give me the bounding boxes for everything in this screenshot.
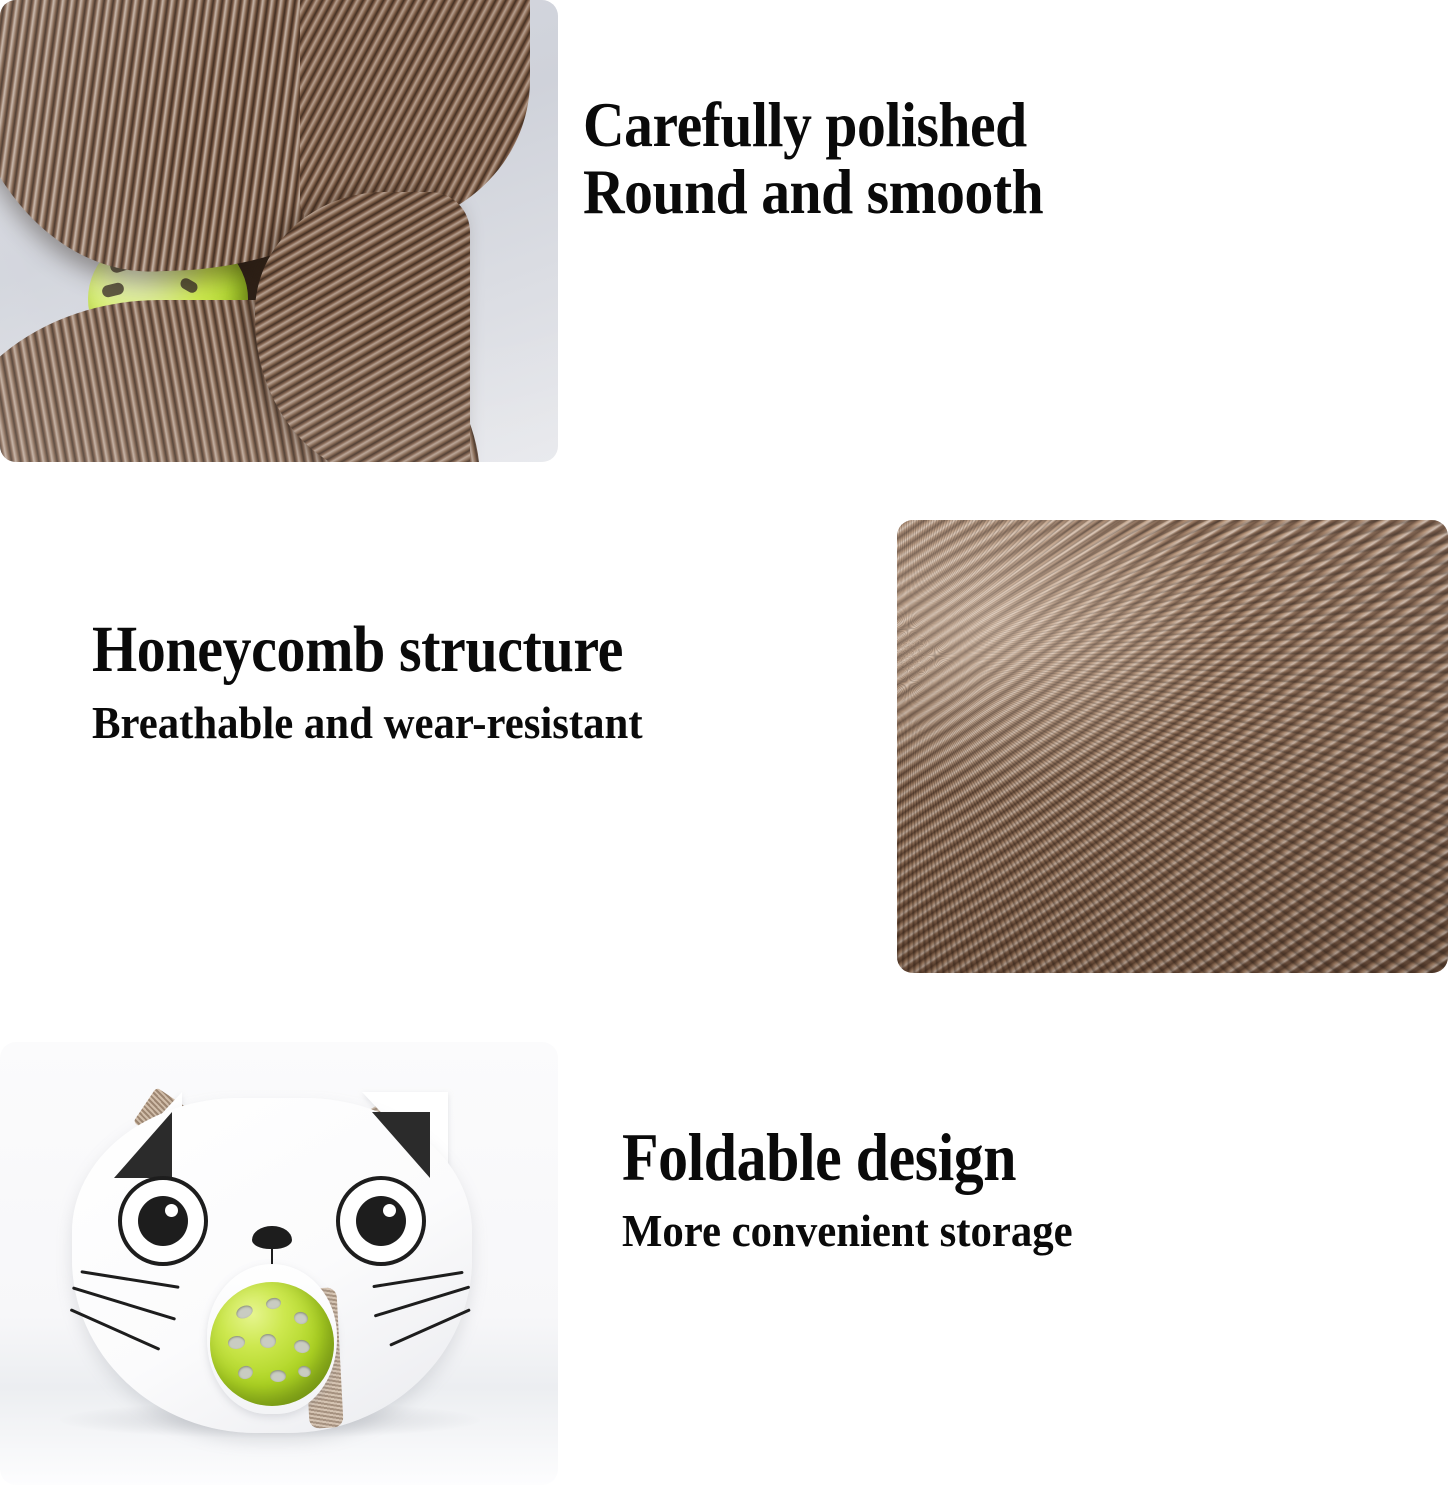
cat-face-scratcher	[62, 1078, 482, 1436]
ball-hole	[270, 1370, 286, 1382]
cat-eye-right	[336, 1176, 426, 1266]
cat-pupil-right	[356, 1196, 406, 1246]
honeycomb-lighting-overlay	[897, 520, 1448, 973]
subline-more-convenient-storage: More convenient storage	[622, 1207, 1073, 1255]
ball-hole	[297, 1364, 313, 1378]
corrugated-lobe-right	[255, 192, 470, 462]
infographic-canvas: Carefully polished Round and smooth Hone…	[0, 0, 1455, 1500]
ball-hole	[265, 1297, 282, 1311]
cat-eye-glint	[165, 1204, 178, 1217]
feature-text-honeycomb-structure: Honeycomb structure Breathable and wear-…	[92, 616, 695, 747]
feature-image-carefully-polished	[0, 0, 558, 462]
ball-hole	[260, 1334, 276, 1348]
subline-breathable-wear-resistant: Breathable and wear-resistant	[92, 699, 653, 747]
headline-line-1: Carefully polished	[583, 92, 1043, 159]
feature-image-foldable-design	[0, 1042, 558, 1485]
cat-ear-inner-left	[114, 1112, 172, 1178]
headline-honeycomb-structure: Honeycomb structure	[92, 616, 623, 685]
feature-text-foldable-design: Foldable design More convenient storage	[622, 1122, 1107, 1255]
cat-ear-inner-right	[372, 1112, 430, 1178]
cat-eye-left	[118, 1176, 208, 1266]
cat-eye-glint	[383, 1204, 396, 1217]
ball-hole	[101, 282, 125, 299]
ball-hole	[178, 276, 199, 295]
headline-foldable-design: Foldable design	[622, 1122, 1048, 1193]
cat-pupil-left	[138, 1196, 188, 1246]
headline-line-2: Round and smooth	[583, 159, 1043, 226]
ball-hole	[227, 1335, 246, 1350]
green-perforated-ball	[210, 1282, 334, 1406]
ball-hole	[236, 1364, 254, 1381]
feature-text-carefully-polished: Carefully polished Round and smooth	[583, 92, 1094, 225]
ball-hole	[293, 1339, 311, 1355]
cat-nose	[252, 1226, 292, 1249]
ball-hole	[293, 1310, 309, 1325]
ball-hole	[234, 1303, 254, 1321]
feature-image-honeycomb-structure	[897, 520, 1448, 973]
